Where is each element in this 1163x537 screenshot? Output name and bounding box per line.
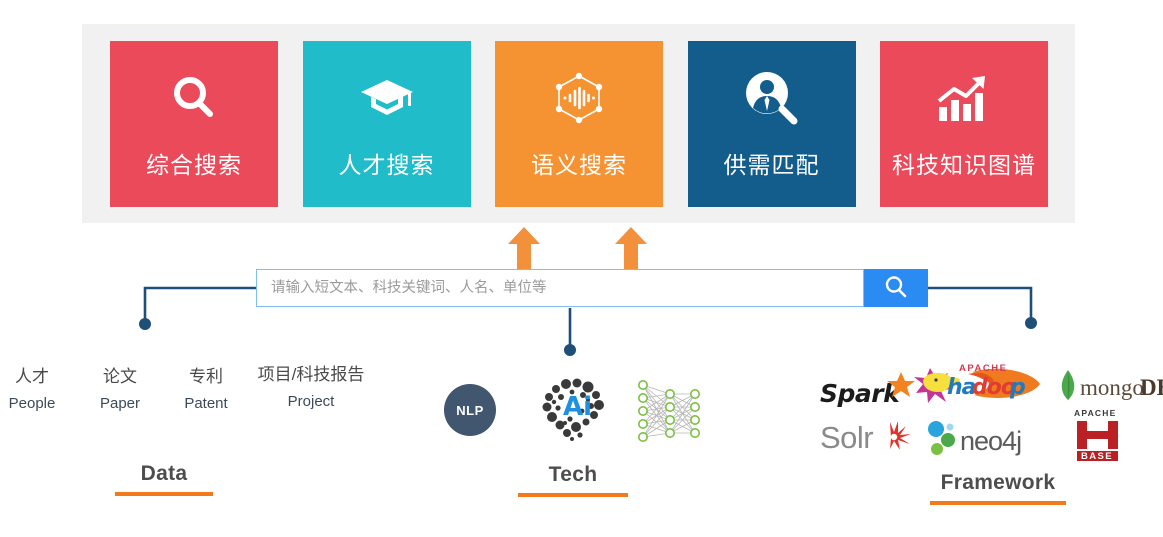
search-box[interactable] bbox=[256, 269, 864, 307]
connector-dot-center bbox=[564, 344, 576, 356]
section-underline bbox=[930, 501, 1066, 505]
connector-dot-left bbox=[139, 318, 151, 330]
up-arrow-left bbox=[507, 227, 541, 269]
svg-text:APACHE: APACHE bbox=[1074, 408, 1116, 418]
feature-card-label: 科技知识图谱 bbox=[892, 146, 1036, 180]
data-item-list: 人才 People 论文 Paper 专利 Patent 项目/科技报告 Pro… bbox=[0, 362, 400, 432]
feature-card-knowledge-graph[interactable]: 科技知识图谱 bbox=[880, 41, 1048, 207]
feature-card-label: 语义搜索 bbox=[531, 146, 627, 180]
up-arrow-right bbox=[614, 227, 648, 269]
svg-text:neo4j: neo4j bbox=[960, 426, 1021, 456]
nlp-badge[interactable]: NLP bbox=[444, 384, 496, 436]
feature-card-talent-search[interactable]: 人才搜索 bbox=[303, 41, 471, 207]
section-title-text: Tech bbox=[515, 463, 631, 487]
feature-card-label: 供需匹配 bbox=[724, 146, 820, 180]
svg-text:DB: DB bbox=[1140, 375, 1163, 400]
mongodb-logo: mongo DB bbox=[1058, 368, 1163, 404]
search-icon bbox=[883, 274, 909, 303]
section-title-text: Framework bbox=[925, 471, 1071, 495]
feature-card-semantic-search[interactable]: 语义搜索 bbox=[495, 41, 663, 207]
nlp-badge-label: NLP bbox=[456, 403, 484, 418]
section-underline bbox=[518, 493, 628, 497]
data-item-patent[interactable]: 专利 Patent bbox=[174, 362, 238, 412]
data-item-people[interactable]: 人才 People bbox=[0, 362, 64, 412]
svg-text:p: p bbox=[1009, 375, 1025, 400]
data-item-en: Project bbox=[250, 393, 372, 410]
solr-logo: Solr bbox=[820, 418, 924, 460]
data-item-en: People bbox=[0, 395, 64, 412]
magnifier-icon bbox=[166, 68, 222, 130]
hadoop-logo: APACHE ha doo p bbox=[914, 362, 1044, 408]
data-item-paper[interactable]: 论文 Paper bbox=[88, 362, 152, 412]
tech-item-list: NLP Ai bbox=[436, 370, 716, 440]
spark-logo: Spark bbox=[820, 370, 928, 412]
section-title-framework: Framework bbox=[925, 471, 1071, 505]
hbase-logo: APACHE BASE bbox=[1068, 406, 1132, 462]
data-item-cn: 论文 bbox=[88, 362, 152, 387]
search-input[interactable] bbox=[257, 270, 863, 306]
section-title-text: Data bbox=[104, 462, 224, 486]
feature-card-comprehensive-search[interactable]: 综合搜索 bbox=[110, 41, 278, 207]
data-item-cn: 项目/科技报告 bbox=[250, 360, 372, 385]
knowledge-graph-icon bbox=[551, 68, 607, 130]
framework-logo-list: Spark APACHE ha doo p bbox=[806, 358, 1163, 458]
svg-text:Solr: Solr bbox=[820, 420, 873, 455]
graduation-cap-icon bbox=[358, 68, 416, 130]
page-root: 综合搜索 人才搜索 bbox=[0, 0, 1163, 537]
feature-card-supply-demand-match[interactable]: 供需匹配 bbox=[688, 41, 856, 207]
svg-text:APACHE: APACHE bbox=[959, 363, 1007, 374]
svg-text:Spark: Spark bbox=[820, 379, 901, 408]
svg-text:Ai: Ai bbox=[563, 392, 592, 422]
section-underline bbox=[115, 492, 213, 496]
svg-text:BASE: BASE bbox=[1081, 451, 1113, 462]
section-title-data: Data bbox=[104, 462, 224, 496]
person-search-icon bbox=[742, 68, 802, 130]
search-button[interactable] bbox=[864, 269, 928, 307]
data-item-en: Paper bbox=[88, 395, 152, 412]
feature-card-label: 人才搜索 bbox=[339, 146, 435, 180]
data-item-en: Patent bbox=[174, 395, 238, 412]
svg-text:mongo: mongo bbox=[1080, 375, 1144, 400]
data-item-project[interactable]: 项目/科技报告 Project bbox=[250, 360, 372, 410]
connector-dot-right bbox=[1025, 317, 1037, 329]
ai-brain-icon: Ai bbox=[536, 375, 608, 447]
neural-network-icon bbox=[634, 378, 704, 444]
neo4j-logo: neo4j bbox=[924, 418, 1044, 460]
data-item-cn: 专利 bbox=[174, 362, 238, 387]
feature-card-list: 综合搜索 人才搜索 bbox=[110, 41, 1048, 207]
trending-chart-icon bbox=[935, 68, 993, 130]
feature-card-label: 综合搜索 bbox=[146, 146, 242, 180]
section-title-tech: Tech bbox=[515, 463, 631, 497]
data-item-cn: 人才 bbox=[0, 362, 64, 387]
